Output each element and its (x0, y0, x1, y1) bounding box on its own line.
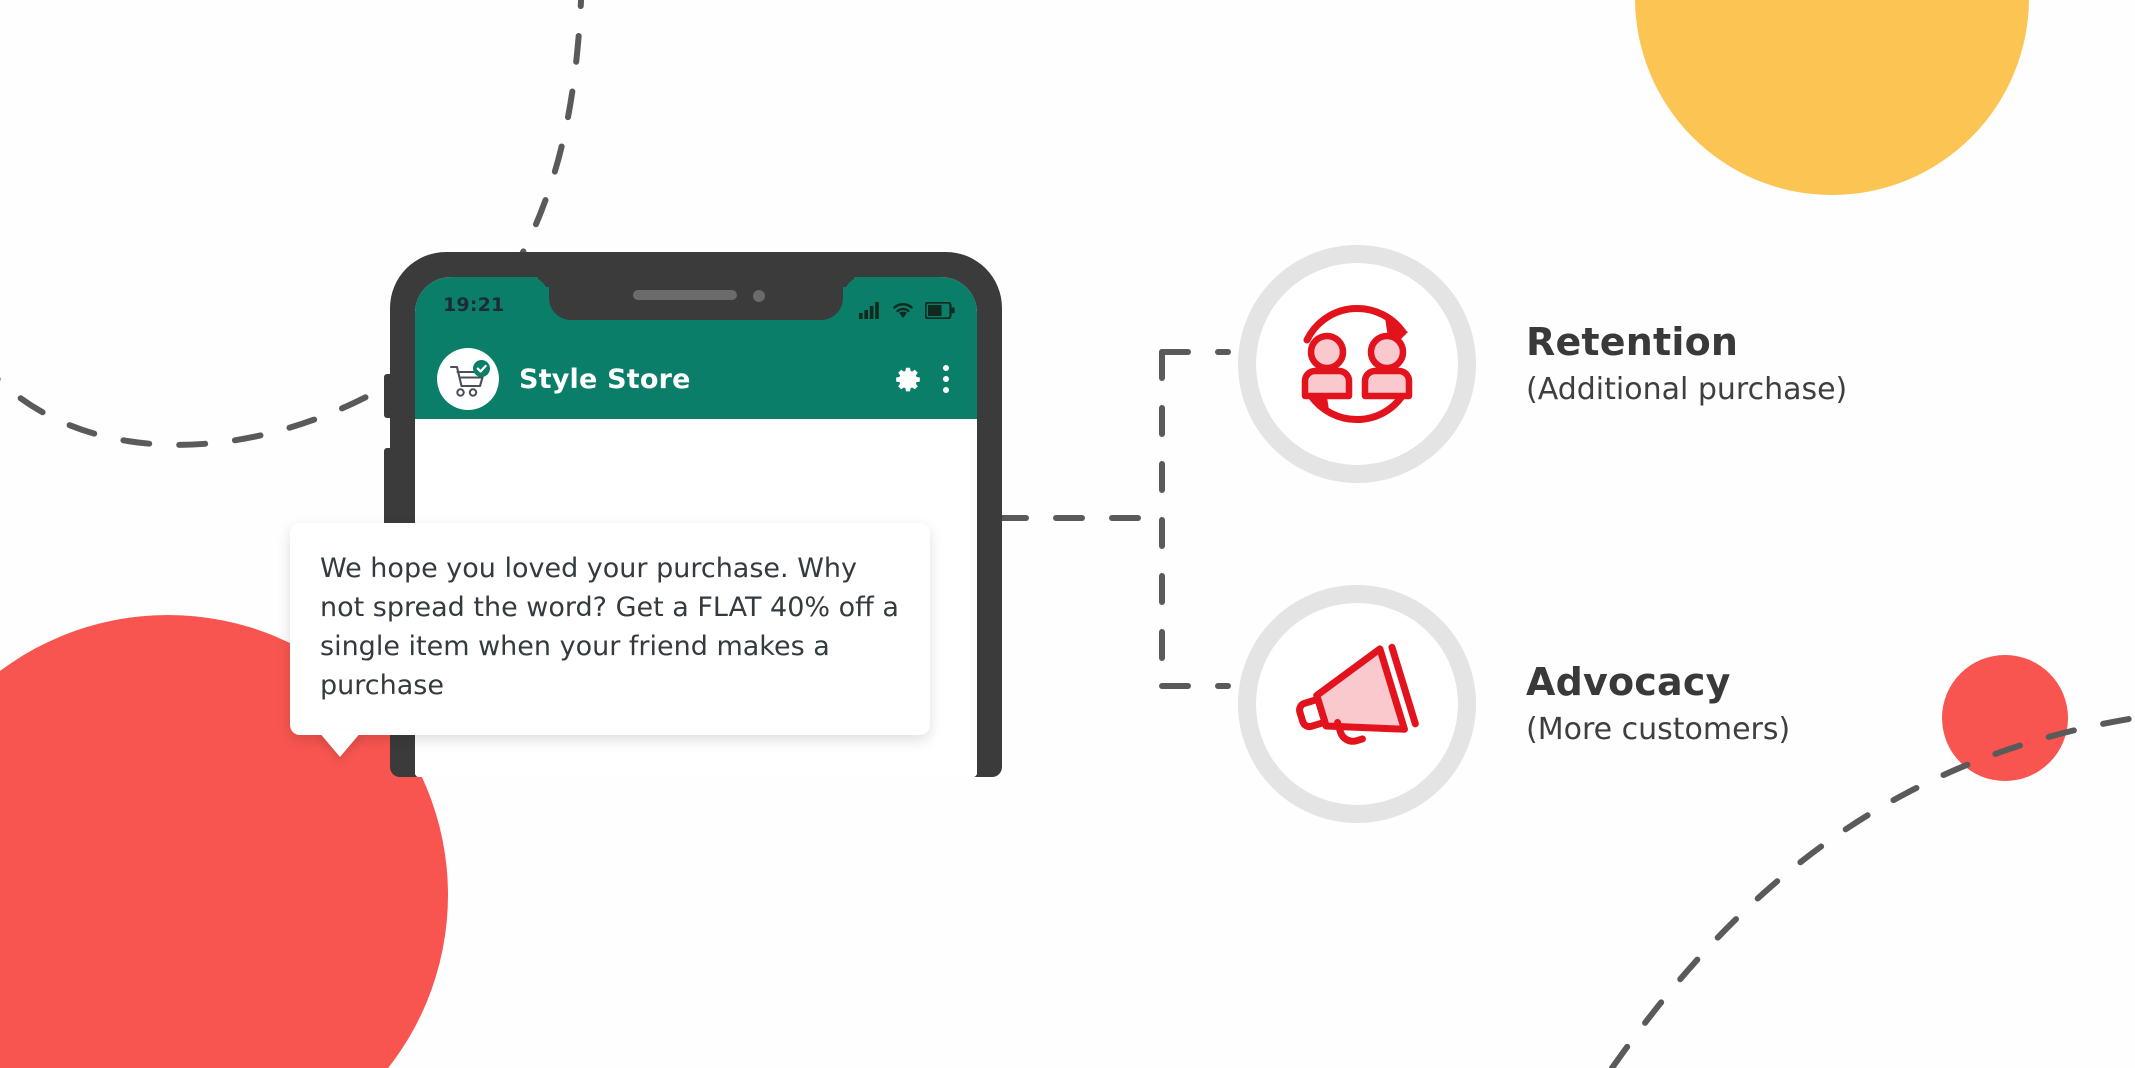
front-camera-icon (753, 290, 765, 302)
gear-icon[interactable] (895, 366, 921, 392)
bubble-tail (318, 731, 362, 757)
advocacy-title: Advocacy (1526, 662, 1790, 704)
advocacy-subtitle: (More customers) (1526, 713, 1790, 746)
retention-subtitle: (Additional purchase) (1526, 373, 1847, 406)
feature-advocacy: Advocacy (More customers) (1238, 585, 1790, 823)
yellow-circle-decoration (1635, 0, 2029, 195)
red-circle-small-decoration (1942, 655, 2068, 781)
advocacy-icon-ring (1238, 585, 1476, 823)
dashed-curve-top (520, 0, 582, 258)
retention-icon-ring (1238, 245, 1476, 483)
retention-title: Retention (1526, 322, 1847, 364)
app-bar-actions (895, 363, 955, 395)
wifi-icon (892, 301, 914, 319)
status-bar: 19:21 (415, 277, 977, 339)
infographic-canvas: 19:21 (0, 0, 2135, 1068)
earpiece-speaker (633, 290, 737, 300)
phone-side-button-volume-up[interactable] (384, 448, 391, 526)
three-dots-vertical-icon[interactable] (937, 363, 955, 395)
shopping-cart-check-icon (437, 348, 499, 410)
advocacy-text-block: Advocacy (More customers) (1526, 662, 1790, 747)
feature-retention: Retention (Additional purchase) (1238, 245, 1847, 483)
signal-bars-icon (859, 301, 881, 319)
status-icons (859, 295, 955, 319)
bubble-box: We hope you loved your purchase. Why not… (290, 523, 930, 735)
promo-message-bubble: We hope you loved your purchase. Why not… (290, 523, 930, 735)
battery-icon (925, 302, 955, 319)
phone-side-button-silent[interactable] (384, 374, 391, 418)
retention-text-block: Retention (Additional purchase) (1526, 322, 1847, 407)
status-time: 19:21 (443, 294, 504, 316)
app-bar: Style Store (415, 339, 977, 419)
app-logo[interactable] (437, 348, 499, 410)
dashed-curve-left (0, 360, 400, 445)
megaphone-icon (1277, 624, 1437, 784)
app-title: Style Store (519, 364, 691, 395)
two-people-cycle-icon (1277, 284, 1437, 444)
bubble-message-text: We hope you loved your purchase. Why not… (320, 549, 900, 705)
phone-notch (549, 277, 843, 320)
